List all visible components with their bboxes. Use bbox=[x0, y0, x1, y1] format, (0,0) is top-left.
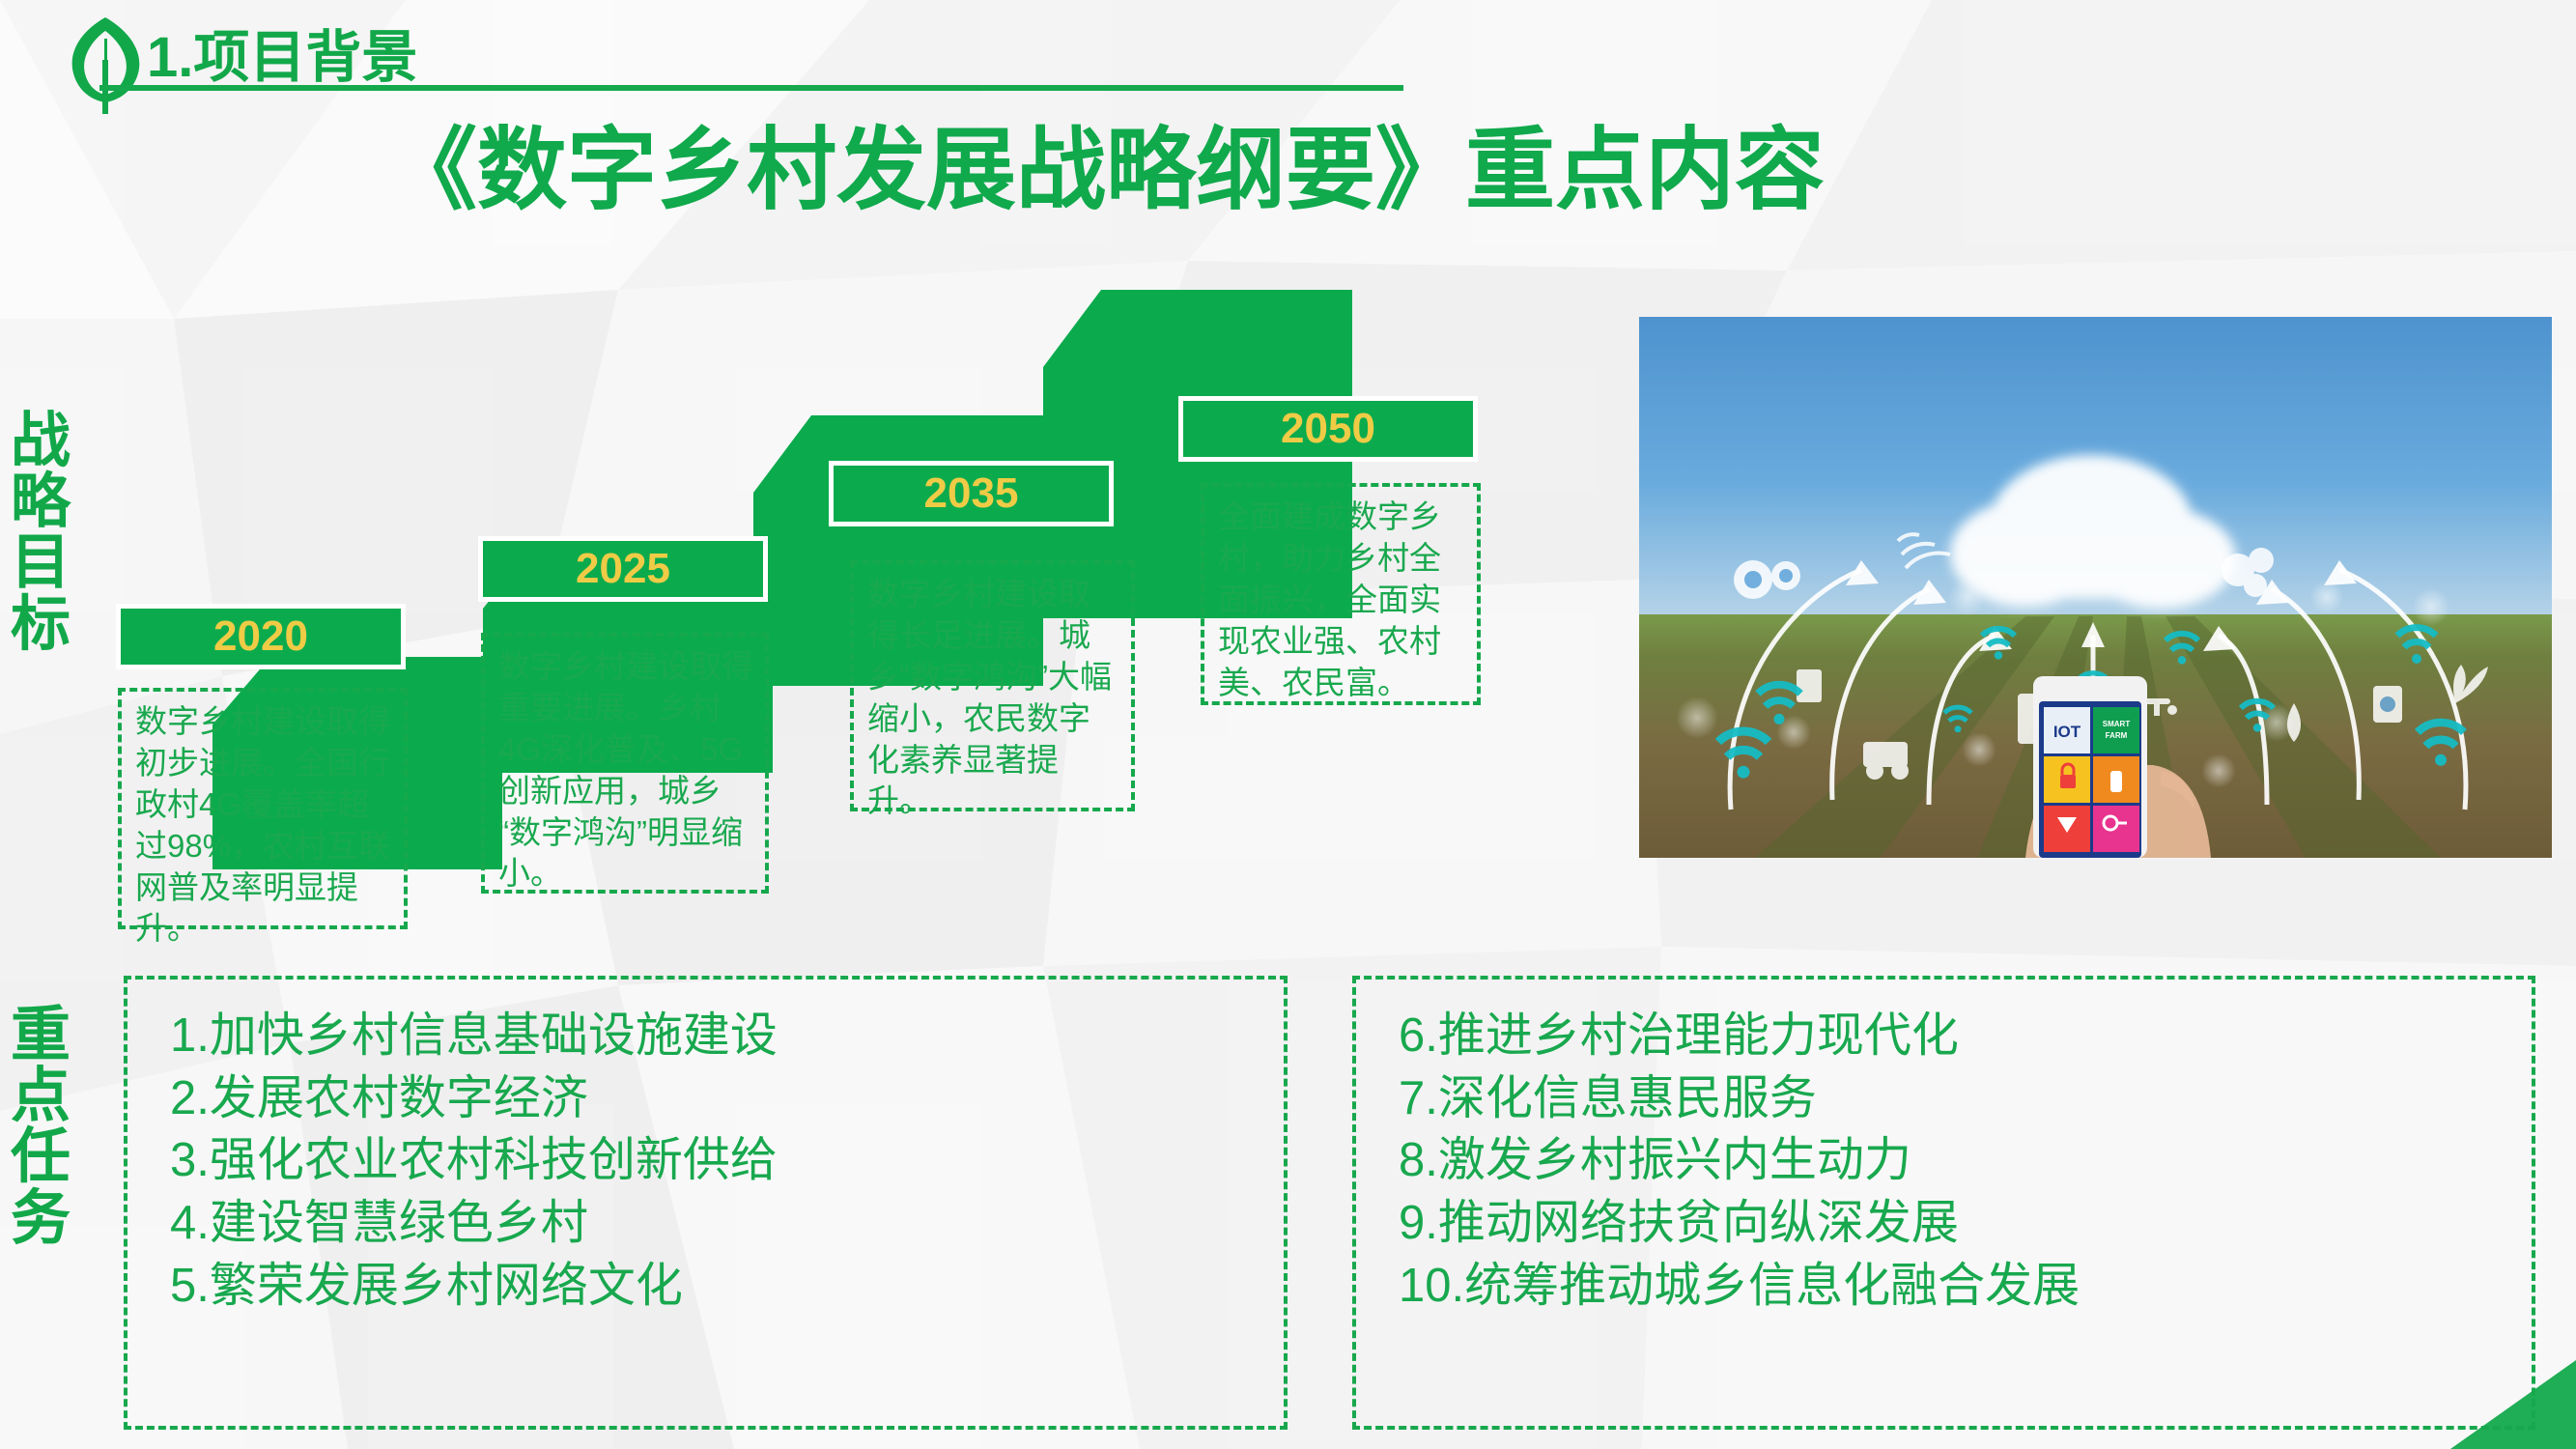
timeline-desc-2050: 全面建成数字乡村，助力乡村全面振兴，全面实现农业强、农村美、农民富。 bbox=[1201, 483, 1481, 705]
task-item: 9.推动网络扶贫向纵深发展 bbox=[1399, 1192, 2512, 1255]
photo-overlay-graphics: IOT SMART FARM bbox=[1639, 317, 2552, 858]
timeline-desc-2020: 数字乡村建设取得初步进展。全国行政村4G覆盖率超过98%，农村互联网普及率明显提… bbox=[118, 688, 408, 929]
timeline-desc-2025: 数字乡村建设取得重要进展。乡村4G深化普及、5G创新应用，城乡“数字鸿沟”明显缩… bbox=[481, 633, 769, 894]
page-section-title: 1.项目背景 bbox=[147, 12, 417, 93]
page-title: 《数字乡村发展战略纲要》重点内容 bbox=[0, 97, 2212, 227]
timeline-year-bar-2035[interactable]: 2035 bbox=[829, 461, 1114, 526]
svg-text:SMART: SMART bbox=[2103, 720, 2131, 728]
task-item: 2.发展农村数字经济 bbox=[170, 1067, 1264, 1130]
side-label-strategic-goals: 战略目标 bbox=[6, 411, 75, 655]
smart-agriculture-iot-photo: IOT SMART FARM bbox=[1639, 317, 2552, 858]
timeline-year-bar-2025[interactable]: 2025 bbox=[478, 536, 768, 602]
task-item: 6.推进乡村治理能力现代化 bbox=[1399, 1005, 2512, 1067]
task-item: 7.深化信息惠民服务 bbox=[1399, 1067, 2512, 1130]
svg-text:FARM: FARM bbox=[2106, 731, 2128, 740]
timeline-desc-2035: 数字乡村建设取得长足进展。城乡“数字鸿沟”大幅缩小，农民数字化素养显著提升。 bbox=[850, 560, 1135, 811]
side-label-key-tasks: 重点任务 bbox=[6, 1005, 75, 1249]
svg-text:IOT: IOT bbox=[2053, 723, 2081, 741]
key-tasks-panel-right: 6.推进乡村治理能力现代化 7.深化信息惠民服务 8.激发乡村振兴内生动力 9.… bbox=[1352, 976, 2535, 1430]
timeline-year-bar-2050[interactable]: 2050 bbox=[1178, 396, 1478, 462]
key-tasks-panel-left: 1.加快乡村信息基础设施建设 2.发展农村数字经济 3.强化农业农村科技创新供给… bbox=[124, 976, 1288, 1430]
task-item: 4.建设智慧绿色乡村 bbox=[170, 1192, 1264, 1255]
task-item: 1.加快乡村信息基础设施建设 bbox=[170, 1005, 1264, 1067]
task-item: 3.强化农业农村科技创新供给 bbox=[170, 1129, 1264, 1192]
header-divider bbox=[99, 85, 1403, 91]
task-item: 8.激发乡村振兴内生动力 bbox=[1399, 1129, 2512, 1192]
task-item: 10.统筹推动城乡信息化融合发展 bbox=[1399, 1255, 2512, 1318]
task-item: 5.繁荣发展乡村网络文化 bbox=[170, 1255, 1264, 1318]
timeline-year-bar-2020[interactable]: 2020 bbox=[116, 604, 406, 669]
